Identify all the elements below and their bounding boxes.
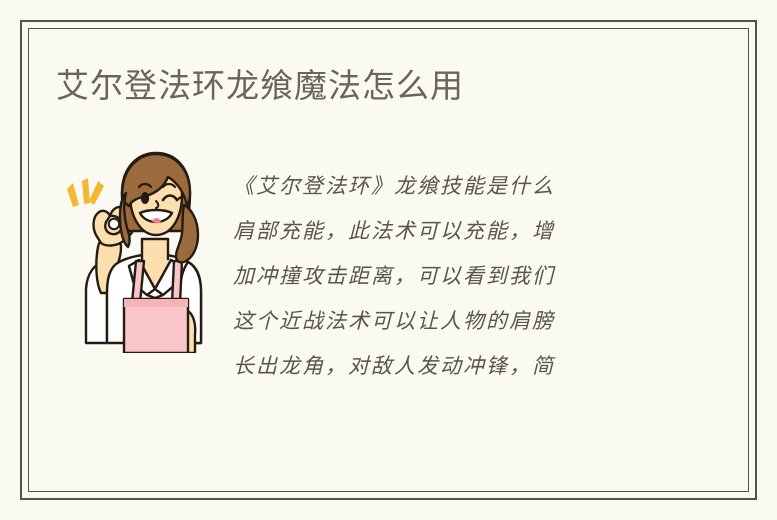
body-line: 这个近战法术可以让人物的肩膀: [233, 299, 645, 344]
body-line: 《艾尔登法环》龙飨技能是什么: [233, 164, 645, 209]
body-line: 长出龙角，对敌人发动冲锋，简: [233, 344, 645, 389]
page-title: 艾尔登法环龙飨魔法怎么用: [56, 64, 464, 108]
winking-woman-ok-gesture-illustration: [60, 143, 210, 353]
body-line: 加冲撞攻击距离，可以看到我们: [233, 254, 645, 299]
article-body: 《艾尔登法环》龙飨技能是什么 肩部充能，此法术可以充能，增 加冲撞攻击距离，可以…: [233, 164, 645, 389]
body-line: 肩部充能，此法术可以充能，增: [233, 209, 645, 254]
article-page: 艾尔登法环龙飨魔法怎么用: [0, 0, 777, 520]
